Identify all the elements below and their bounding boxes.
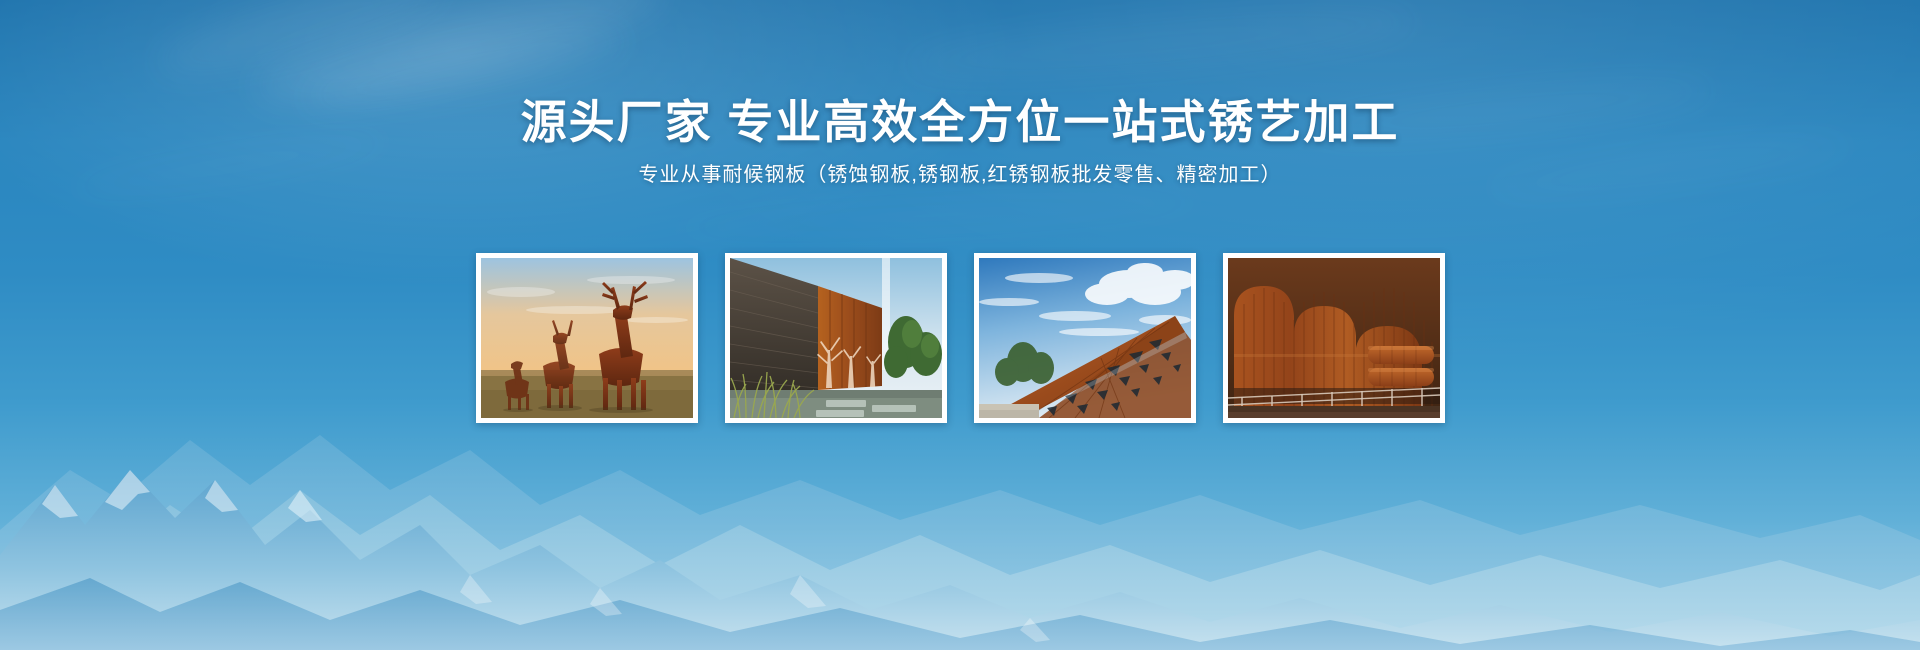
banner-content: 源头厂家 专业高效全方位一站式锈艺加工 专业从事耐候钢板（锈蚀钢板,锈钢板,红锈… (0, 0, 1920, 650)
gallery-card[interactable] (1223, 253, 1445, 423)
corten-curved-building-facade-image (1228, 258, 1440, 418)
gallery-card[interactable] (476, 253, 698, 423)
product-image-gallery (0, 253, 1920, 423)
banner-subtitle: 专业从事耐候钢板（锈蚀钢板,锈钢板,红锈钢板批发零售、精密加工） (0, 158, 1920, 187)
banner-headline: 源头厂家 专业高效全方位一站式锈艺加工 (0, 86, 1920, 152)
corten-deer-sculpture-image (481, 258, 693, 418)
hero-banner: 源头厂家 专业高效全方位一站式锈艺加工 专业从事耐候钢板（锈蚀钢板,锈钢板,红锈… (0, 0, 1920, 650)
gallery-card[interactable] (974, 253, 1196, 423)
corten-triangular-pavilion-image (979, 258, 1191, 418)
corten-tree-pattern-wall-image (730, 258, 942, 418)
gallery-card[interactable] (725, 253, 947, 423)
